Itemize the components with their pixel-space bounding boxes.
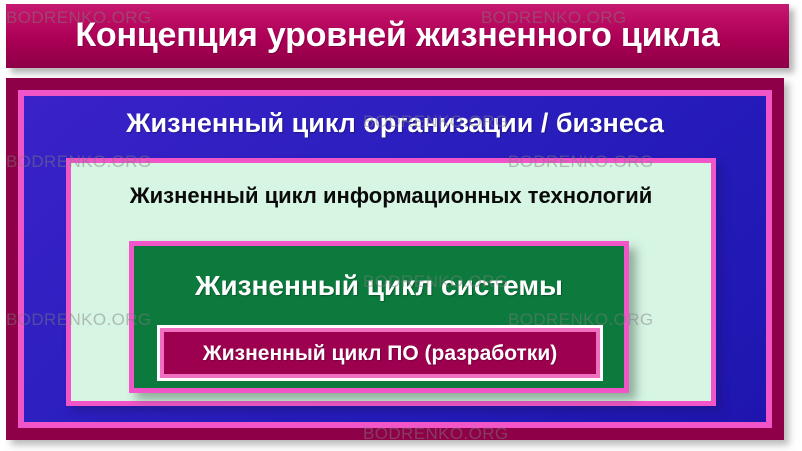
page-title: Концепция уровней жизненного цикла xyxy=(75,18,719,54)
lifecycle-level-system-label: Жизненный цикл системы xyxy=(134,272,624,300)
slide-title-bar: Концепция уровней жизненного цикла xyxy=(6,4,789,68)
lifecycle-level-system: Жизненный цикл системы Жизненный цикл ПО… xyxy=(129,241,629,393)
lifecycle-level-organization-label: Жизненный цикл организации / бизнеса xyxy=(24,110,766,137)
lifecycle-level-information-technology-label: Жизненный цикл информационных технологий xyxy=(71,185,711,207)
lifecycle-level-software-label: Жизненный цикл ПО (разработки) xyxy=(203,343,557,364)
lifecycle-level-software: Жизненный цикл ПО (разработки) xyxy=(160,328,600,378)
lifecycle-outer-frame: Жизненный цикл организации / бизнеса Жиз… xyxy=(6,78,784,440)
lifecycle-level-organization: Жизненный цикл организации / бизнеса Жиз… xyxy=(18,90,772,428)
slide-canvas: Концепция уровней жизненного цикла Жизне… xyxy=(0,0,802,451)
lifecycle-level-information-technology: Жизненный цикл информационных технологий… xyxy=(66,158,716,406)
